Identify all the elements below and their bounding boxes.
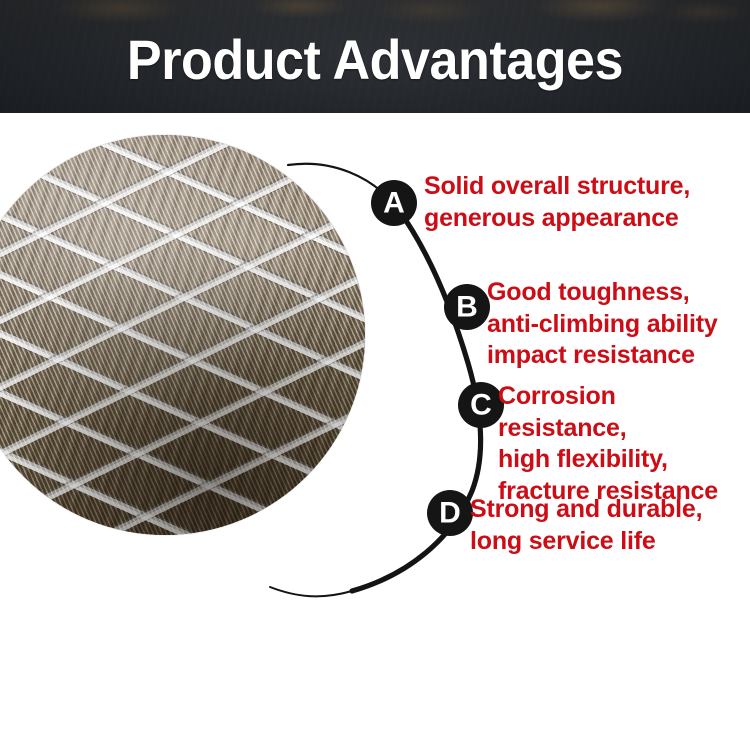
badge-d[interactable]: D — [427, 490, 473, 536]
badge-a[interactable]: A — [371, 180, 417, 226]
badge-b-letter: B — [456, 291, 478, 324]
page-title: Product Advantages — [26, 0, 724, 113]
product-advantages-infographic: Product Advantages A — [0, 0, 750, 750]
header-banner: Product Advantages — [0, 0, 750, 113]
badge-a-letter: A — [383, 187, 405, 220]
badge-d-letter: D — [439, 497, 461, 530]
badge-c-letter: C — [470, 389, 492, 422]
advantage-text-b: Good toughness, anti-climbing ability im… — [487, 277, 750, 372]
content-stage: A B C D Solid overall structure, generou… — [0, 113, 750, 750]
advantage-text-a: Solid overall structure, generous appear… — [424, 171, 750, 234]
badge-b[interactable]: B — [444, 284, 490, 330]
advantage-text-c: Corrosion resistance, high flexibility, … — [498, 381, 750, 507]
connector-curve-lower-tail — [270, 587, 352, 596]
advantage-text-d: Strong and durable, long service life — [470, 494, 750, 557]
